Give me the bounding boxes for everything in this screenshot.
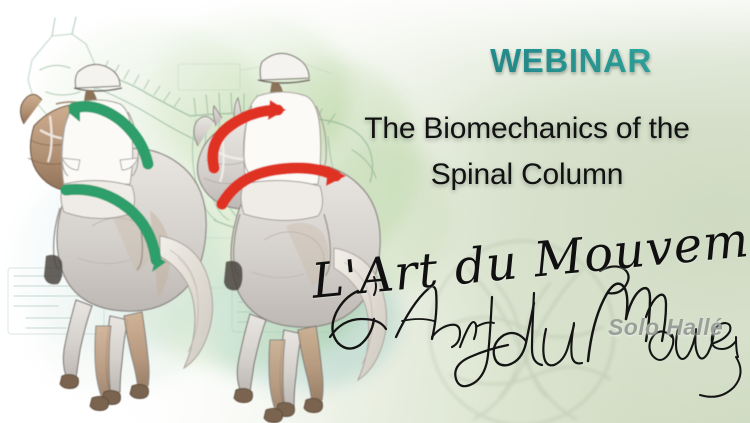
page-title: The Biomechanics of the Spinal Column (318, 106, 736, 197)
signature-flourish (700, 357, 741, 397)
rider-left-helmet (75, 64, 120, 88)
webinar-title-slide: WEBINAR WEBINAR The Biomechanics of the … (0, 0, 750, 423)
eyebrow-webinar: WEBINAR (441, 44, 701, 77)
rider-right-helmet (260, 53, 309, 80)
rider-horse-left (20, 64, 212, 410)
rider-right-seat (241, 180, 323, 220)
brand-subtitle: Solo Hallé (608, 314, 723, 341)
